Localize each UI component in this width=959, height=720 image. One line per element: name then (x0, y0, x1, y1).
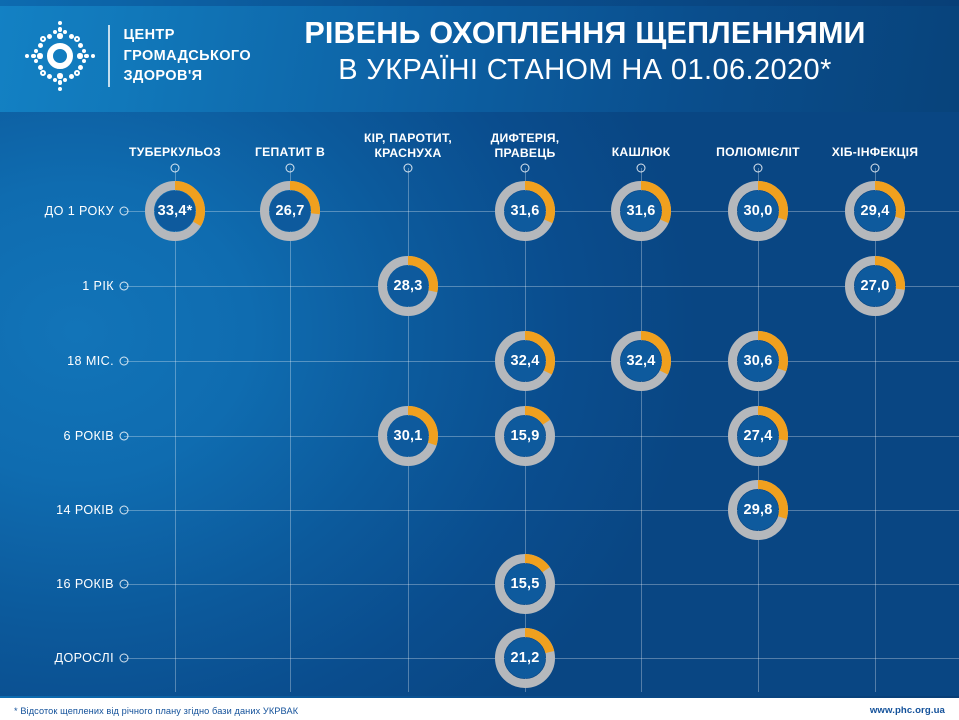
donut-gauge: 15,9 (492, 403, 558, 469)
donut-value-label: 32,4 (608, 328, 674, 394)
footer-band: * Відсоток щеплених від річного плану зг… (0, 698, 959, 720)
donut-value-label: 27,4 (725, 403, 791, 469)
donut-value-label: 30,6 (725, 328, 791, 394)
donut-value-label: 26,7 (257, 178, 323, 244)
infographic-canvas: ЦЕНТР ГРОМАДСЬКОГО ЗДОРОВ'Я РІВЕНЬ ОХОПЛ… (0, 0, 959, 720)
donut-gauge: 29,8 (725, 477, 791, 543)
donut-value-label: 29,4 (842, 178, 908, 244)
donut-gauge: 32,4 (608, 328, 674, 394)
donut-value-label: 31,6 (492, 178, 558, 244)
chart-donuts: 33,4*26,731,631,630,029,428,327,032,432,… (0, 0, 959, 720)
donut-value-label: 32,4 (492, 328, 558, 394)
donut-value-label: 27,0 (842, 253, 908, 319)
donut-gauge: 21,2 (492, 625, 558, 691)
donut-gauge: 31,6 (608, 178, 674, 244)
donut-value-label: 30,0 (725, 178, 791, 244)
donut-gauge: 26,7 (257, 178, 323, 244)
donut-value-label: 30,1 (375, 403, 441, 469)
donut-value-label: 15,5 (492, 551, 558, 617)
website-url[interactable]: www.phc.org.ua (870, 705, 945, 716)
donut-gauge: 28,3 (375, 253, 441, 319)
donut-gauge: 27,0 (842, 253, 908, 319)
donut-gauge: 27,4 (725, 403, 791, 469)
footnote: * Відсоток щеплених від річного плану зг… (14, 706, 298, 716)
donut-gauge: 33,4* (142, 178, 208, 244)
donut-gauge: 32,4 (492, 328, 558, 394)
donut-value-label: 29,8 (725, 477, 791, 543)
donut-gauge: 30,0 (725, 178, 791, 244)
donut-gauge: 31,6 (492, 178, 558, 244)
donut-value-label: 15,9 (492, 403, 558, 469)
donut-gauge: 15,5 (492, 551, 558, 617)
donut-gauge: 30,6 (725, 328, 791, 394)
donut-value-label: 31,6 (608, 178, 674, 244)
donut-gauge: 30,1 (375, 403, 441, 469)
donut-gauge: 29,4 (842, 178, 908, 244)
donut-value-label: 21,2 (492, 625, 558, 691)
donut-value-label: 33,4* (142, 178, 208, 244)
donut-value-label: 28,3 (375, 253, 441, 319)
